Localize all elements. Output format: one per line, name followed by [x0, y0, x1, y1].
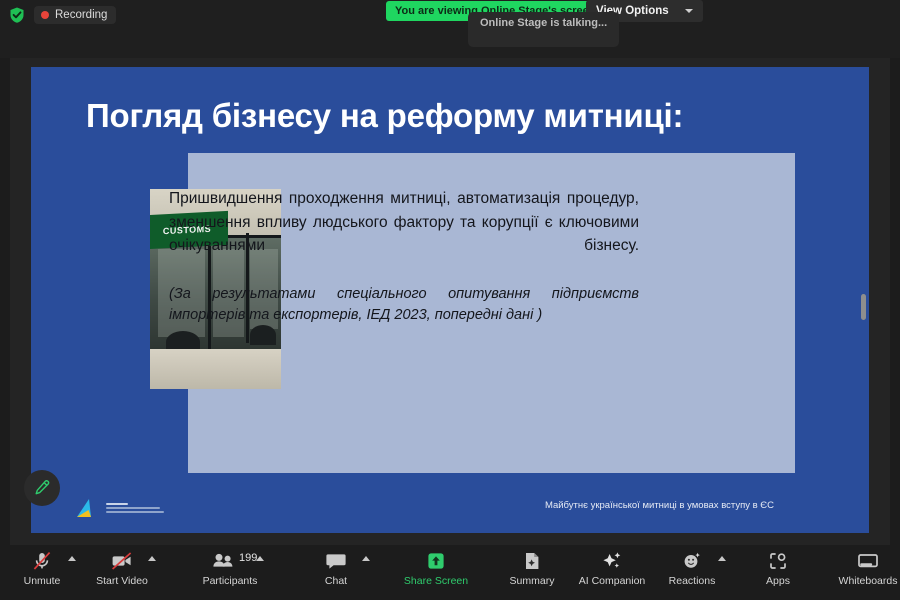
toolbar-label-summary: Summary [510, 575, 555, 587]
toolbar-label-share-screen: Share Screen [404, 575, 468, 587]
photo-floor [150, 349, 281, 389]
apps-icon [767, 550, 789, 572]
toolbar-button-reactions[interactable]: Reactions [664, 550, 720, 587]
summary-doc-icon [521, 550, 543, 572]
shield-check-icon[interactable] [8, 6, 26, 24]
toolbar-button-chat[interactable]: Chat [308, 550, 364, 587]
logo-wordmark [106, 503, 164, 513]
recording-label: Recording [55, 9, 107, 21]
chevron-up-icon[interactable] [68, 556, 76, 561]
recording-dot-icon [41, 11, 49, 19]
toolbar-label-whiteboards: Whiteboards [839, 575, 898, 587]
logo-triangle-icon [75, 497, 101, 519]
share-screen-icon [425, 550, 447, 572]
chevron-down-icon[interactable] [685, 9, 693, 13]
toolbar-label-chat: Chat [325, 575, 347, 587]
slide-footer-text: Майбутнє української митниці в умовах вс… [545, 500, 774, 511]
microphone-muted-icon [31, 550, 53, 572]
active-speaker-tooltip: Online Stage is talking... [468, 12, 619, 47]
toolbar-label-apps: Apps [766, 575, 790, 587]
slide-paragraph-main: Пришвидшення проходження митниці, автома… [169, 187, 639, 258]
sparkles-icon [600, 550, 624, 572]
toolbar-label-ai-companion: AI Companion [579, 575, 646, 587]
toolbar-button-whiteboards[interactable]: Whiteboards [840, 550, 896, 587]
toolbar-button-participants[interactable]: Participants 199 [202, 550, 258, 587]
organization-logo [75, 497, 164, 519]
toolbar-button-share-screen[interactable]: Share Screen [408, 550, 464, 587]
video-off-icon [110, 550, 134, 572]
pencil-annotate-icon [33, 479, 51, 497]
slide-body-text: Пришвидшення проходження митниці, автома… [169, 187, 639, 327]
presentation-slide: Погляд бізнесу на реформу митниці: CUSTO… [31, 67, 869, 533]
toolbar-label-unmute: Unmute [24, 575, 61, 587]
toolbar-label-participants: Participants [203, 575, 258, 587]
smiley-reaction-icon [681, 550, 703, 572]
toolbar-label-reactions: Reactions [669, 575, 716, 587]
participants-count: 199 [239, 552, 257, 564]
zoom-meeting-window: Recording You are viewing Online Stage's… [0, 0, 900, 600]
slide-paragraph-source-note: (За результатами спеціального опитування… [169, 284, 639, 328]
photo-silhouette [250, 325, 276, 345]
top-left-status-group: Recording [8, 6, 116, 24]
shared-screen-area: Погляд бізнесу на реформу митниці: CUSTO… [10, 58, 890, 545]
toolbar-button-ai-companion[interactable]: AI Companion [584, 550, 640, 587]
toolbar-button-summary[interactable]: Summary [504, 550, 560, 587]
shared-screen-scrollbar[interactable] [861, 294, 866, 320]
chat-bubble-icon [325, 550, 347, 572]
chevron-up-icon[interactable] [148, 556, 156, 561]
annotate-pencil-button[interactable] [24, 470, 60, 506]
toolbar-label-start-video: Start Video [96, 575, 148, 587]
toolbar-button-unmute[interactable]: Unmute [14, 550, 70, 587]
toolbar-button-apps[interactable]: Apps [750, 550, 806, 587]
chevron-up-icon[interactable] [362, 556, 370, 561]
meeting-controls-toolbar: Unmute Start Video [0, 545, 900, 600]
whiteboard-icon [856, 550, 880, 572]
toolbar-button-start-video[interactable]: Start Video [94, 550, 150, 587]
recording-badge[interactable]: Recording [34, 6, 116, 24]
meeting-top-bar: Recording You are viewing Online Stage's… [0, 0, 900, 58]
chevron-up-icon[interactable] [718, 556, 726, 561]
slide-title: Погляд бізнесу на реформу митниці: [86, 97, 826, 135]
